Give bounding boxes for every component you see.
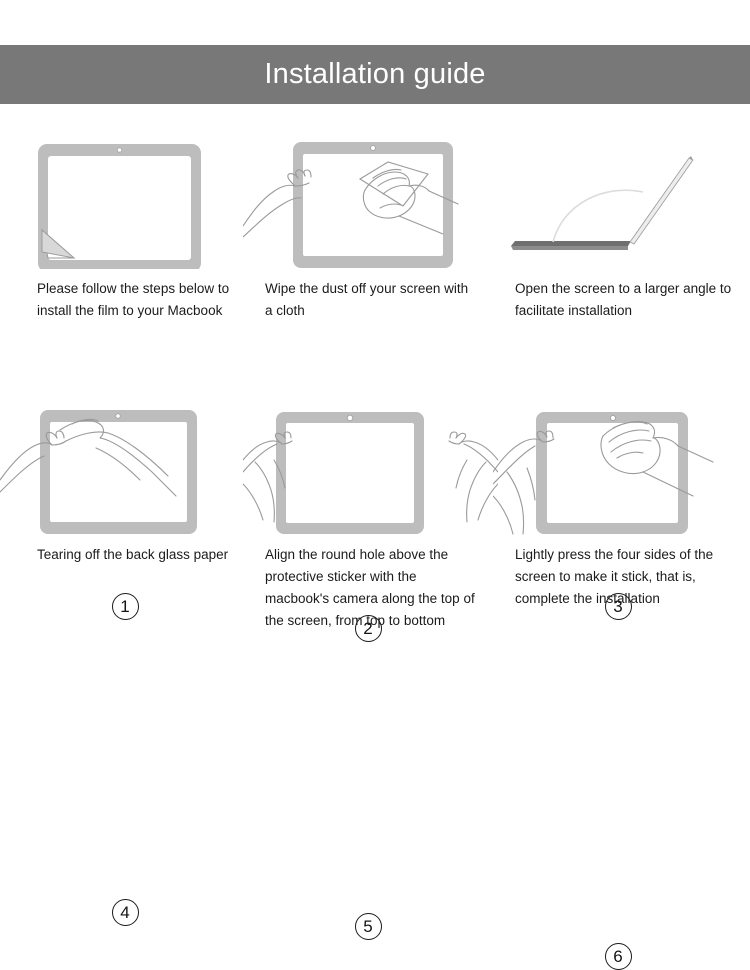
open-angle-arc-icon bbox=[553, 190, 643, 242]
step-4-illustration bbox=[0, 400, 250, 530]
step-1-illustration bbox=[0, 134, 250, 264]
step-card-6: Lightly press the four sides of the scre… bbox=[493, 400, 743, 695]
right-pinching-hand-icon bbox=[449, 432, 498, 522]
step-card-3: Open the screen to a larger angle to fac… bbox=[493, 134, 743, 377]
screen-bezel-icon bbox=[276, 412, 424, 534]
step-5-illustration bbox=[243, 400, 493, 530]
step-6-caption: Lightly press the four sides of the scre… bbox=[515, 544, 740, 610]
step-3-caption: Open the screen to a larger angle to fac… bbox=[515, 278, 740, 322]
step-5-caption: Align the round hole above the protectiv… bbox=[265, 544, 475, 632]
step-6-number-wrap: 6 bbox=[493, 943, 743, 970]
screen-bezel-icon bbox=[40, 410, 197, 534]
laptop-side-view-icon bbox=[511, 156, 693, 250]
step-5-number-wrap: 5 bbox=[243, 913, 493, 940]
step-4-caption: Tearing off the back glass paper bbox=[37, 544, 252, 566]
step-4-number-wrap: 4 bbox=[0, 899, 250, 926]
step-number-badge: 5 bbox=[355, 913, 382, 940]
page-title: Installation guide bbox=[264, 58, 485, 91]
step-card-4: Tearing off the back glass paper 4 bbox=[0, 400, 250, 651]
installation-guide-page: Installation guide Please follow bbox=[0, 0, 750, 750]
step-card-2: Wipe the dust off your screen with a clo… bbox=[243, 134, 493, 399]
step-1-caption: Please follow the steps below to install… bbox=[37, 278, 252, 322]
step-2-illustration bbox=[243, 134, 493, 264]
steps-grid: Please follow the steps below to install… bbox=[0, 104, 750, 750]
screen-bezel-icon bbox=[293, 142, 453, 268]
screen-bezel-icon bbox=[536, 412, 688, 534]
step-2-caption: Wipe the dust off your screen with a clo… bbox=[265, 278, 475, 322]
step-3-illustration bbox=[493, 134, 743, 264]
step-number-badge: 4 bbox=[112, 899, 139, 926]
step-card-1: Please follow the steps below to install… bbox=[0, 134, 250, 377]
step-6-illustration bbox=[493, 400, 743, 530]
step-card-5: Align the round hole above the protectiv… bbox=[243, 400, 493, 665]
step-number-badge: 6 bbox=[605, 943, 632, 970]
header-banner: Installation guide bbox=[0, 45, 750, 104]
